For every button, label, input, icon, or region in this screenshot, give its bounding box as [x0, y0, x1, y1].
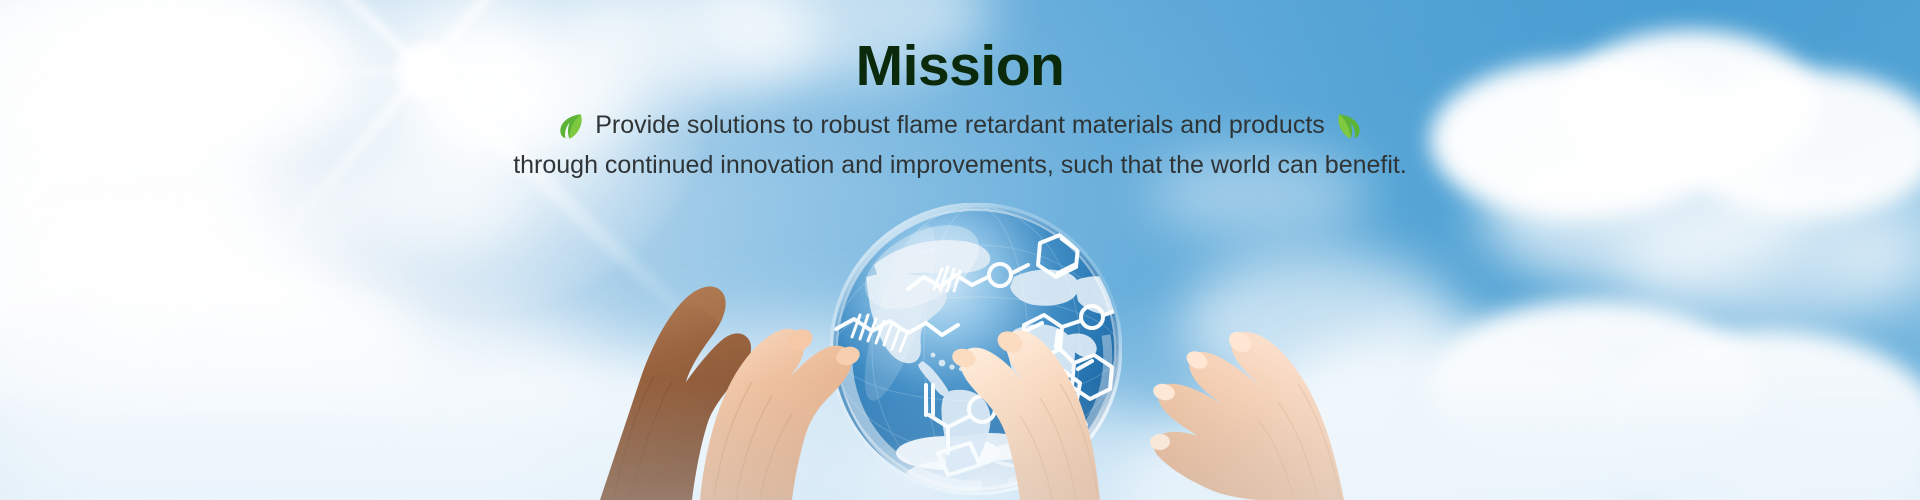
banner-text-block: Mission Provide solutions to robust flam…: [0, 38, 1920, 182]
tagline-line-2: through continued innovation and improve…: [0, 149, 1920, 183]
page-title: Mission: [0, 38, 1920, 95]
leaf-icon: [559, 113, 583, 139]
leaf-icon: [1337, 113, 1361, 139]
hand-far-right: [1149, 328, 1390, 500]
tagline-line-1: Provide solutions to robust flame retard…: [595, 109, 1325, 143]
mission-banner: Mission Provide solutions to robust flam…: [0, 0, 1920, 500]
hand-right-center: [950, 327, 1124, 500]
tagline-row: Provide solutions to robust flame retard…: [0, 109, 1920, 143]
hands-icon: [0, 200, 1920, 500]
